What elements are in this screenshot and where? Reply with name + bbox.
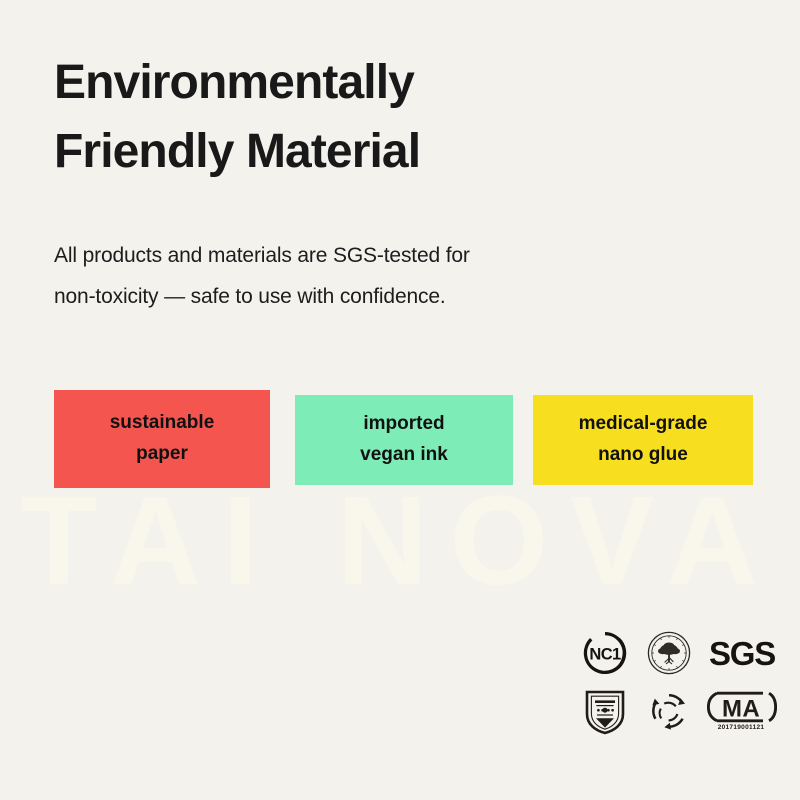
sgs-wordmark: SGS [701, 624, 781, 682]
recycling-icon [636, 682, 702, 740]
page-title-line-2: Friendly Material [54, 117, 674, 186]
page-description: All products and materials are SGS-teste… [54, 236, 654, 318]
svg-text:MA: MA [722, 696, 760, 723]
poster-canvas: TAI NOVA Environmentally Friendly Materi… [0, 0, 800, 800]
svg-text:NC1: NC1 [589, 646, 621, 664]
forest-seal-icon [636, 624, 702, 682]
page-description-line-1: All products and materials are SGS-teste… [54, 236, 654, 277]
material-chip-sustainable-paper: sustainable paper [54, 390, 270, 488]
material-chip-line-2: nano glue [598, 440, 688, 471]
material-chip-medical-grade-nano-glue: medical-grade nano glue [533, 395, 753, 485]
material-chip-row: sustainable paper imported vegan ink med… [54, 390, 754, 500]
material-chip-imported-vegan-ink: imported vegan ink [295, 395, 513, 485]
material-chip-line-1: imported [363, 409, 444, 440]
page-title-line-1: Environmentally [54, 48, 674, 117]
material-chip-line-1: sustainable [110, 408, 215, 439]
page-description-line-2: non-toxicity — safe to use with confiden… [54, 277, 654, 318]
material-chip-line-2: vegan ink [360, 440, 448, 471]
cma-serial-number: 201719001121 [718, 725, 765, 732]
cma-icon: MA 201719001121 [702, 682, 780, 740]
nc1-icon: NC1 [574, 624, 636, 682]
material-chip-line-2: paper [136, 439, 188, 470]
certification-badge-grid: NC1 [574, 624, 780, 746]
material-chip-line-1: medical-grade [579, 409, 708, 440]
shield-icon [574, 682, 636, 740]
page-title: Environmentally Friendly Material [54, 48, 674, 186]
